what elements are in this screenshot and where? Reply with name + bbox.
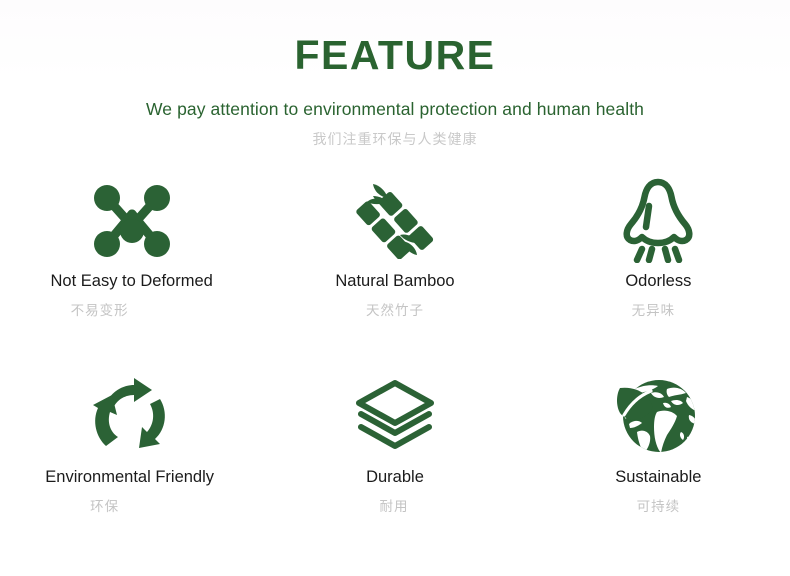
feature-grid: Not Easy to Deformed 不易变形 <box>0 170 790 562</box>
feature-label-cn: 环保 <box>90 499 119 515</box>
globe-leaf-icon <box>617 366 699 464</box>
feature-label-cn: 无异味 <box>632 303 676 319</box>
feature-item: Sustainable 可持续 <box>527 366 790 562</box>
feature-label-cn: 不易变形 <box>71 303 129 319</box>
molecule-nodes-icon <box>92 170 172 270</box>
page-title: FEATURE <box>0 34 790 77</box>
feature-label-cn: 可持续 <box>637 499 681 515</box>
recycle-icon <box>90 366 174 464</box>
feature-label-en: Natural Bamboo <box>335 272 454 292</box>
feature-label-en: Sustainable <box>615 468 701 488</box>
feature-item: Odorless 无异味 <box>527 170 790 366</box>
feature-label-en: Odorless <box>625 272 691 292</box>
layers-stack-icon <box>353 366 437 464</box>
feature-label-en: Not Easy to Deformed <box>51 272 213 292</box>
feature-label-en: Durable <box>366 468 424 488</box>
feature-label-cn: 耐用 <box>379 499 408 515</box>
bamboo-icon <box>355 170 435 270</box>
feature-item: Natural Bamboo 天然竹子 <box>263 170 526 366</box>
feature-item: Not Easy to Deformed 不易变形 <box>0 170 263 366</box>
subtitle-english: We pay attention to environmental protec… <box>0 99 790 120</box>
section-header: FEATURE We pay attention to environmenta… <box>0 0 790 148</box>
nose-icon <box>621 170 695 270</box>
feature-label-cn: 天然竹子 <box>366 303 424 319</box>
feature-section: FEATURE We pay attention to environmenta… <box>0 0 790 576</box>
feature-label-en: Environmental Friendly <box>45 468 214 488</box>
feature-item: Durable 耐用 <box>263 366 526 562</box>
subtitle-chinese: 我们注重环保与人类健康 <box>0 131 790 148</box>
feature-item: Environmental Friendly 环保 <box>0 366 263 562</box>
